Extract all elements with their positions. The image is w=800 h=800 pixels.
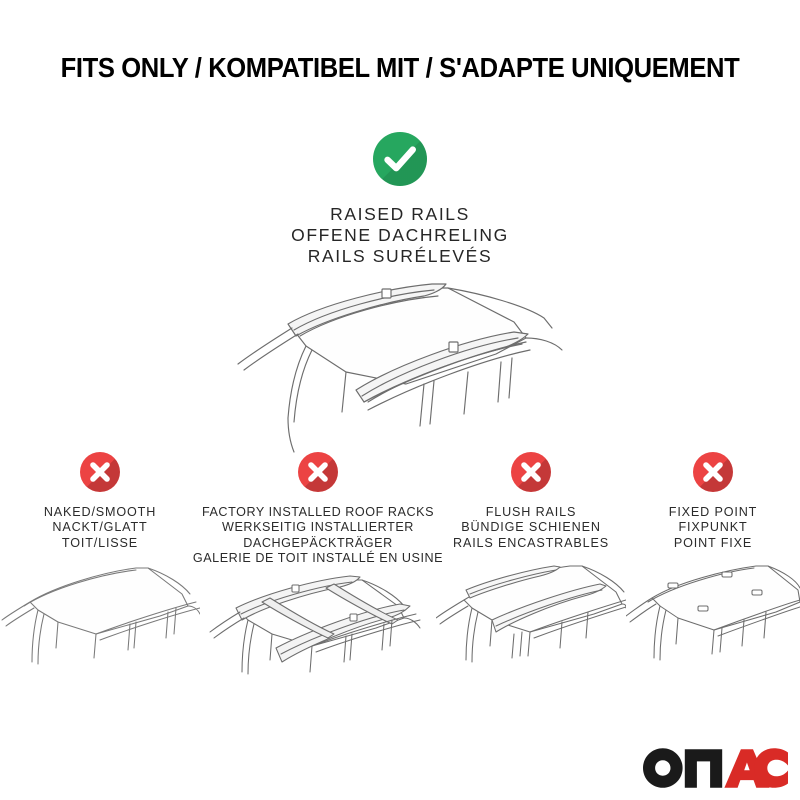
item-label-fr: TOIT/LISSE [44,536,156,551]
compatible-labels: RAISED RAILS OFFENE DACHRELING RAILS SUR… [291,204,509,267]
incompatible-item-naked-smooth: NAKED/SMOOTH NACKT/GLATT TOIT/LISSE [0,452,200,678]
compatible-label-de: OFFENE DACHRELING [291,225,509,246]
logo-letter-m [685,749,722,787]
red-x-circle-icon [693,452,733,492]
item-label-fr: RAILS ENCASTRABLES [453,536,609,551]
item-labels: FLUSH RAILS BÜNDIGE SCHIENEN RAILS ENCAS… [453,505,609,551]
logo-letter-o [643,748,683,788]
incompatible-item-factory-roof-racks: FACTORY INSTALLED ROOF RACKS WERKSEITIG … [200,452,436,694]
car-roof-with-raised-rails-illustration [196,280,606,465]
item-label-fr: GALERIE DE TOIT INSTALLÉ EN USINE [193,551,443,566]
item-label-de: FIXPUNKT [669,520,757,535]
green-check-circle-icon [373,132,427,186]
item-label-de: NACKT/GLATT [44,520,156,535]
item-label-en: NAKED/SMOOTH [44,505,156,520]
incompatible-section: NAKED/SMOOTH NACKT/GLATT TOIT/LISSE [0,452,800,694]
red-x-circle-icon [511,452,551,492]
car-roof-naked-smooth-illustration [0,558,200,678]
incompatible-item-fixed-point: FIXED POINT FIXPUNKT POINT FIXE [626,452,800,678]
item-labels: FIXED POINT FIXPUNKT POINT FIXE [669,505,757,551]
compatible-label-fr: RAILS SURÉLEVÉS [291,246,509,267]
item-label-en: FACTORY INSTALLED ROOF RACKS [193,505,443,520]
red-x-circle-icon [80,452,120,492]
item-label-de: BÜNDIGE SCHIENEN [453,520,609,535]
compatibility-infographic: FITS ONLY / KOMPATIBEL MIT / S'ADAPTE UN… [0,0,800,800]
item-labels: NAKED/SMOOTH NACKT/GLATT TOIT/LISSE [44,505,156,551]
car-roof-with-flush-rails-illustration [436,558,626,678]
omac-logo [643,746,788,790]
item-labels: FACTORY INSTALLED ROOF RACKS WERKSEITIG … [193,505,443,567]
item-label-de-2: DACHGEPÄCKTRÄGER [193,536,443,551]
compatible-label-en: RAISED RAILS [291,204,509,225]
car-roof-with-factory-crossbars-illustration [200,574,436,694]
item-label-en: FIXED POINT [669,505,757,520]
red-x-circle-icon [298,452,338,492]
page-title: FITS ONLY / KOMPATIBEL MIT / S'ADAPTE UN… [28,52,772,84]
item-label-fr: POINT FIXE [669,536,757,551]
item-label-de-1: WERKSEITIG INSTALLIERTER [193,520,443,535]
incompatible-item-flush-rails: FLUSH RAILS BÜNDIGE SCHIENEN RAILS ENCAS… [436,452,626,678]
compatible-section: RAISED RAILS OFFENE DACHRELING RAILS SUR… [0,132,800,267]
item-label-en: FLUSH RAILS [453,505,609,520]
car-roof-with-fixed-points-illustration [626,558,800,678]
